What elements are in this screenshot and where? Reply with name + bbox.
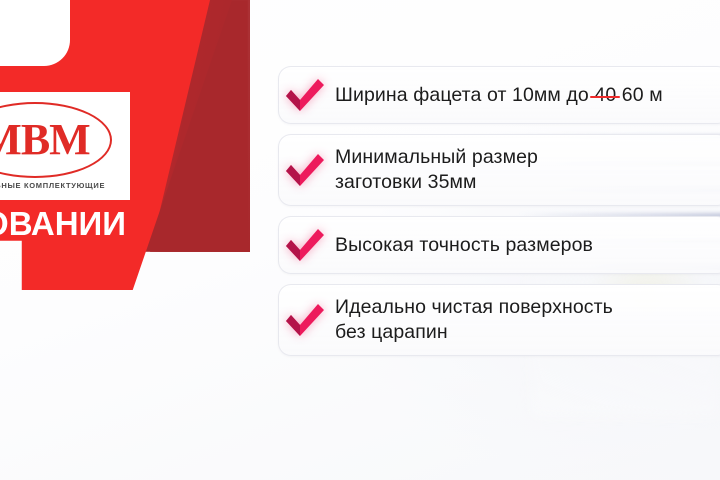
checklist-item-text: Идеально чистая поверхность без царапин [335,295,613,345]
check-icon [281,298,329,342]
ribbon-headline-text: ОБОРУДОВАНИИ [0,205,126,243]
feature-checklist: Ширина фацета от 10мм до 40 60 м Минимал… [278,66,720,366]
logo-brand-text: MBM [0,118,90,162]
logo-tagline-text: МЕБЕЛЬНЫЕ КОМПЛЕКТУЮЩИЕ [0,181,105,190]
checklist-item: Минимальный размер заготовки 35мм [278,134,720,206]
check-icon [281,223,329,267]
checklist-item-text: Высокая точность размеров [335,233,593,258]
checklist-item-text-line2: без царапин [335,320,613,345]
checklist-item-text: Ширина фацета от 10мм до 40 60 м [335,83,663,108]
checklist-item-text-pre: Минимальный размер [335,146,538,168]
checklist-item-text-pre: Ширина фацета от 10мм до [335,84,594,106]
red-ribbon-banner: MBM МЕБЕЛЬНЫЕ КОМПЛЕКТУЮЩИЕ ОБОРУДОВАНИИ [0,0,270,330]
checklist-item: Идеально чистая поверхность без царапин [278,284,720,356]
ribbon-headline-band: ОБОРУДОВАНИИ [0,202,130,246]
checklist-item: Высокая точность размеров [278,216,720,274]
checklist-item-text: Минимальный размер заготовки 35мм [335,145,538,195]
logo-oval-outline: MBM [0,102,112,178]
check-icon [281,73,329,117]
check-icon [281,148,329,192]
slide-canvas: MBM МЕБЕЛЬНЫЕ КОМПЛЕКТУЮЩИЕ ОБОРУДОВАНИИ… [0,0,720,480]
checklist-item: Ширина фацета от 10мм до 40 60 м [278,66,720,124]
checklist-item-text-pre: Идеально чистая поверхность [335,296,613,318]
checklist-item-struck-value: 40 [594,83,616,108]
checklist-item-text-line2: заготовки 35мм [335,170,538,195]
checklist-item-text-post: 60 м [616,84,662,106]
company-logo: MBM МЕБЕЛЬНЫЕ КОМПЛЕКТУЮЩИЕ [0,92,130,200]
ribbon-notch-shape [0,0,70,66]
